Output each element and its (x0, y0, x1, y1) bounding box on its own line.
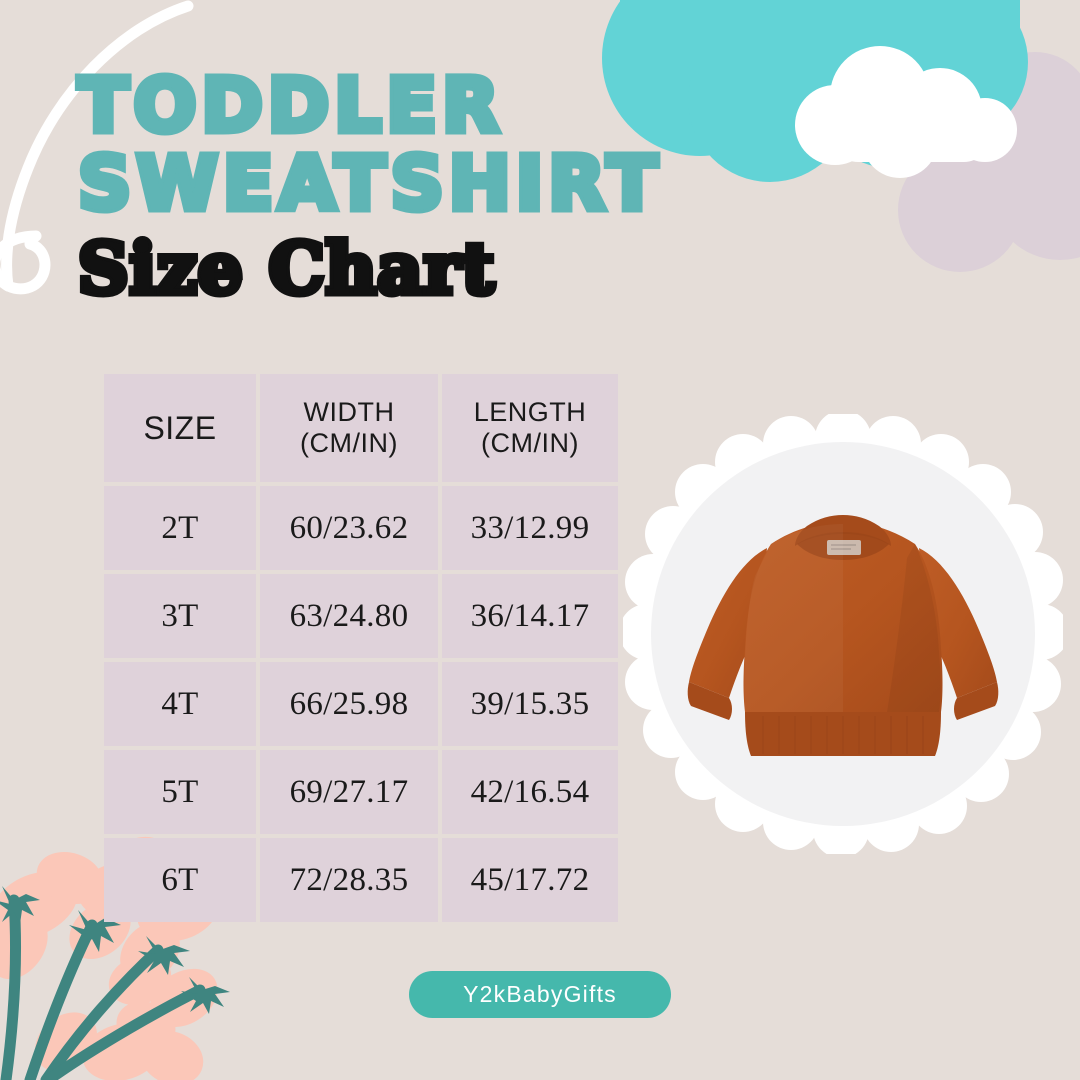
heading-block: Toddler Sweatshirt Size Chart (78, 72, 798, 304)
column-header-size: SIZE (104, 374, 256, 482)
cell-size: 6T (104, 838, 256, 922)
cell-size: 5T (104, 750, 256, 834)
cell-length: 45/17.72 (442, 838, 618, 922)
toddler-sweatshirt-illustration (651, 442, 1035, 826)
column-header-length: LENGTH (CM/IN) (442, 374, 618, 482)
column-header-width: WIDTH (CM/IN) (260, 374, 438, 482)
table-row: 4T 66/25.98 39/15.35 (104, 662, 618, 746)
column-header-length-unit: (CM/IN) (481, 428, 579, 458)
table-row: 2T 60/23.62 33/12.99 (104, 486, 618, 570)
cell-length: 33/12.99 (442, 486, 618, 570)
column-header-width-unit: (CM/IN) (300, 428, 398, 458)
column-header-size-label: SIZE (143, 410, 216, 446)
table-row: 6T 72/28.35 45/17.72 (104, 838, 618, 922)
title-line-2: Sweatshirt (78, 150, 798, 218)
table-row: 5T 69/27.17 42/16.54 (104, 750, 618, 834)
cell-length: 42/16.54 (442, 750, 618, 834)
cell-width: 63/24.80 (260, 574, 438, 658)
flower-stems-decoration (6, 900, 200, 1080)
cell-width: 66/25.98 (260, 662, 438, 746)
column-header-width-label: WIDTH (304, 397, 395, 427)
title-line-1: Toddler (78, 72, 798, 140)
cell-length: 39/15.35 (442, 662, 618, 746)
table-row: 3T 63/24.80 36/14.17 (104, 574, 618, 658)
cell-size: 4T (104, 662, 256, 746)
cell-width: 72/28.35 (260, 838, 438, 922)
brand-name: Y2kBabyGifts (463, 981, 617, 1008)
cell-size: 3T (104, 574, 256, 658)
product-image-frame (623, 414, 1063, 854)
brand-badge: Y2kBabyGifts (409, 971, 671, 1018)
cell-size: 2T (104, 486, 256, 570)
cloud-white-icon (795, 46, 1017, 178)
page-title: Size Chart (78, 234, 798, 304)
cell-width: 60/23.62 (260, 486, 438, 570)
product-image (651, 442, 1035, 826)
cell-width: 69/27.17 (260, 750, 438, 834)
cell-length: 36/14.17 (442, 574, 618, 658)
column-header-length-label: LENGTH (474, 397, 587, 427)
cloud-mauve-icon (898, 52, 1080, 272)
table-header-row: SIZE WIDTH (CM/IN) LENGTH (CM/IN) (104, 374, 618, 482)
size-chart-table: SIZE WIDTH (CM/IN) LENGTH (CM/IN) 2T 60/… (100, 370, 622, 926)
size-chart-canvas: Toddler Sweatshirt Size Chart SIZE WIDTH… (0, 0, 1080, 1080)
